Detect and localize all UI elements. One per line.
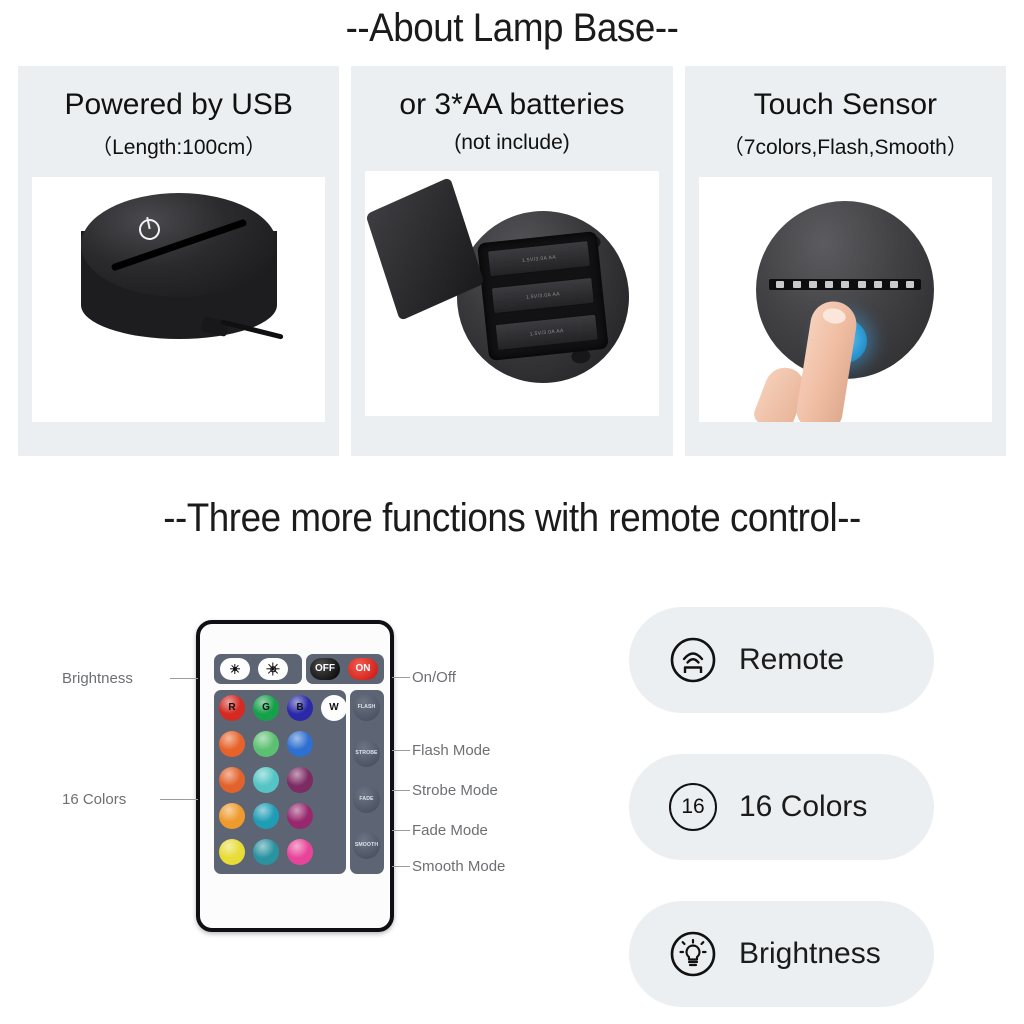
remote-signal-icon: [669, 636, 717, 684]
feature-pill-16-colors[interactable]: 16 16 Colors: [629, 754, 934, 860]
callout-smooth-mode: Smooth Mode: [412, 858, 505, 875]
battery-compartment-photo: 1.5V/3.0A AA 1.5V/3.0A AA 1.5V/3.0A AA: [365, 171, 658, 416]
brightness-up-key[interactable]: [258, 658, 288, 680]
color-key-r3c3[interactable]: [287, 767, 313, 793]
callout-brightness: Brightness: [62, 670, 133, 687]
color-key-r[interactable]: R: [219, 695, 245, 721]
battery-slot: 1.5V/3.0A AA: [491, 277, 595, 315]
led: [890, 281, 898, 288]
touch-sensor-photo: [699, 177, 992, 422]
off-key-label: OFF: [315, 664, 335, 674]
color-key-r4c1[interactable]: [219, 803, 245, 829]
color-key-b[interactable]: B: [287, 695, 313, 721]
feature-pill-label: 16 Colors: [739, 790, 867, 824]
leader-line: [392, 790, 410, 791]
mode-key-strobe[interactable]: STROBE: [353, 740, 380, 767]
brightness-down-key[interactable]: [220, 658, 250, 680]
remote-control[interactable]: OFF ON RGBW FLASHSTROBEFADESMOOTH: [196, 620, 394, 932]
battery-slot: 1.5V/3.0A AA: [495, 314, 599, 352]
on-key-label: ON: [356, 664, 371, 674]
battery-slot: 1.5V/3.0A AA: [487, 240, 591, 278]
led: [825, 281, 833, 288]
led: [841, 281, 849, 288]
card-subtitle: (not include): [454, 131, 570, 155]
card-title: or 3*AA batteries: [399, 88, 624, 122]
power-icon: [137, 217, 162, 242]
mode-key-smooth[interactable]: SMOOTH: [353, 832, 380, 859]
feature-pill-label: Remote: [739, 643, 844, 677]
feature-pill-remote[interactable]: Remote: [629, 607, 934, 713]
leader-line: [170, 678, 198, 679]
sun-dim-icon: [229, 663, 242, 676]
lamp-base-card-row: Powered by USB （Length:100cm） or 3*AA ba…: [18, 66, 1006, 456]
led-strip: [769, 279, 921, 290]
mode-key-label: FLASH: [358, 705, 376, 710]
led: [874, 281, 882, 288]
off-key[interactable]: OFF: [310, 658, 340, 680]
callout-16-colors: 16 Colors: [62, 791, 126, 808]
feature-pill-list: Remote 16 16 Colors: [629, 607, 934, 1024]
page-title-about-lamp-base: --About Lamp Base--: [41, 6, 983, 51]
sun-bright-icon: [267, 663, 280, 676]
leader-line: [392, 830, 410, 831]
leader-line: [392, 750, 410, 751]
color-key-g[interactable]: G: [253, 695, 279, 721]
led: [809, 281, 817, 288]
mode-key-flash[interactable]: FLASH: [353, 694, 380, 721]
battery-well: 1.5V/3.0A AA 1.5V/3.0A AA 1.5V/3.0A AA: [477, 231, 609, 361]
color-key-r3c1[interactable]: [219, 767, 245, 793]
color-key-r4c3[interactable]: [287, 803, 313, 829]
color-key-label: R: [228, 703, 235, 713]
leader-line: [392, 677, 410, 678]
color-key-r5c2[interactable]: [253, 839, 279, 865]
lamp-base-top: [81, 193, 277, 297]
color-key-r2c3[interactable]: [287, 731, 313, 757]
mode-key-label: SMOOTH: [355, 843, 378, 848]
card-title: Powered by USB: [64, 88, 292, 122]
color-key-r5c3[interactable]: [287, 839, 313, 865]
card-touch-sensor: Touch Sensor （7colors,Flash,Smooth）: [685, 66, 1006, 456]
mode-key-label: FADE: [359, 797, 373, 802]
callout-strobe-mode: Strobe Mode: [412, 782, 498, 799]
led: [858, 281, 866, 288]
card-subtitle: （7colors,Flash,Smooth）: [723, 131, 968, 161]
lamp-base-underside: 1.5V/3.0A AA 1.5V/3.0A AA 1.5V/3.0A AA: [449, 202, 638, 391]
lamp-base-usb-photo: [32, 177, 325, 422]
product-infographic: --About Lamp Base-- Powered by USB （Leng…: [0, 0, 1024, 1024]
mode-key-label: STROBE: [355, 751, 377, 756]
color-key-label: W: [329, 703, 338, 713]
color-key-label: B: [296, 703, 303, 713]
leader-line: [160, 799, 198, 800]
acrylic-slot: [110, 219, 247, 272]
card-aa-batteries: or 3*AA batteries (not include) 1.5V/3.0…: [351, 66, 672, 456]
color-key-w[interactable]: W: [321, 695, 347, 721]
callout-on-off: On/Off: [412, 669, 456, 686]
color-key-r5c1[interactable]: [219, 839, 245, 865]
color-key-r4c2[interactable]: [253, 803, 279, 829]
card-powered-by-usb: Powered by USB （Length:100cm）: [18, 66, 339, 456]
leader-line: [392, 866, 410, 867]
feature-pill-brightness[interactable]: Brightness: [629, 901, 934, 1007]
callout-fade-mode: Fade Mode: [412, 822, 488, 839]
color-key-r2c1[interactable]: [219, 731, 245, 757]
card-subtitle: （Length:100cm）: [91, 131, 266, 161]
color-key-r2c2[interactable]: [253, 731, 279, 757]
card-title: Touch Sensor: [754, 88, 937, 122]
color-key-r3c2[interactable]: [253, 767, 279, 793]
sixteen-circle-icon: 16: [669, 783, 717, 831]
brightness-bulb-icon: [669, 930, 717, 978]
callout-flash-mode: Flash Mode: [412, 742, 490, 759]
color-key-label: G: [262, 703, 270, 713]
mode-key-fade[interactable]: FADE: [353, 786, 380, 813]
led: [776, 281, 784, 288]
led: [906, 281, 914, 288]
feature-pill-label: Brightness: [739, 937, 881, 971]
on-key[interactable]: ON: [348, 658, 378, 680]
page-title-three-functions: --Three more functions with remote contr…: [41, 496, 983, 541]
sixteen-badge-text: 16: [669, 783, 717, 831]
led: [793, 281, 801, 288]
